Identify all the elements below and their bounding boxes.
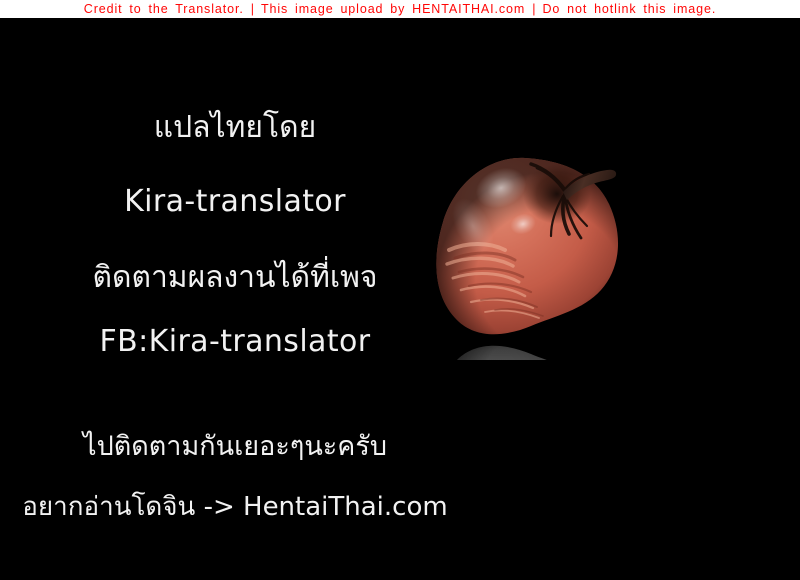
apple-body-group — [436, 158, 618, 334]
credit-separator-2: | — [525, 0, 542, 18]
credit-segment-uploader: This image upload by HENTAITHAI.com — [261, 0, 525, 18]
page-root: Credit to the Translator. | This image u… — [0, 0, 800, 580]
credit-banner: Credit to the Translator. | This image u… — [0, 0, 800, 18]
credit-separator-1: | — [244, 0, 261, 18]
apple-illustration — [415, 130, 665, 510]
credit-line-please-follow: ไปติดตามกันเยอะๆนะครับ — [0, 424, 470, 467]
credit-line-follow-on-page: ติดตามผลงานได้ที่เพจ — [0, 254, 470, 301]
credit-line-translator-name: Kira-translator — [0, 184, 470, 219]
credit-segment-translator: Credit to the Translator. — [84, 0, 244, 18]
apple-reflection-group — [436, 346, 618, 510]
credit-segment-hotlink-warning: Do not hotlink this image. — [542, 0, 716, 18]
credit-line-translated-by: แปลไทยโดย — [0, 104, 470, 151]
translator-credit-block: แปลไทยโดย Kira-translator ติดตามผลงานได้… — [0, 18, 470, 580]
credit-line-facebook-page: FB:Kira-translator — [0, 324, 470, 359]
credit-line-read-doujin-site: อยากอ่านโดจิน -> HentaiThai.com — [0, 486, 470, 527]
main-stage: แปลไทยโดย Kira-translator ติดตามผลงานได้… — [0, 18, 800, 580]
